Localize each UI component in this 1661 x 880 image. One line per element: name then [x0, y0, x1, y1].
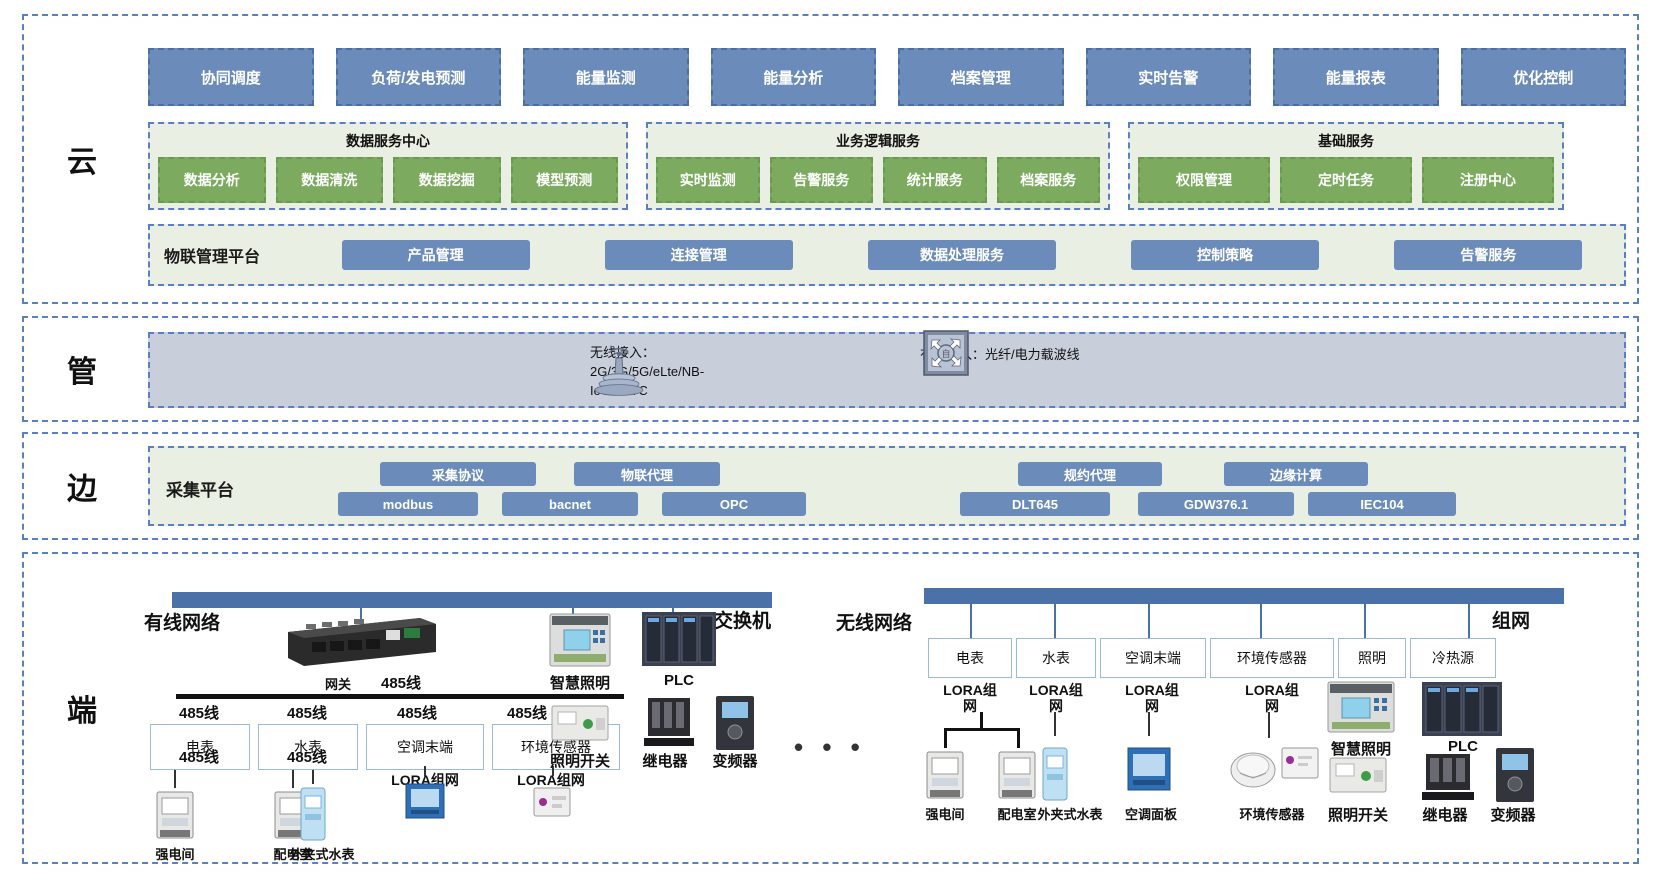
- iot-item-alarm-service[interactable]: 告警服务: [1394, 240, 1582, 270]
- edge-protocol-bacnet[interactable]: bacnet: [502, 492, 638, 516]
- wireless-link-lora-3: LORA组网: [1122, 682, 1182, 714]
- wireless-drop-6: [1468, 594, 1470, 638]
- wireless-drop-3: [1148, 594, 1150, 638]
- wired-device-hvac-terminal[interactable]: 空调末端: [366, 724, 484, 770]
- iot-item-data-processing-service[interactable]: 数据处理服务: [868, 240, 1056, 270]
- wired-485-bus: [176, 694, 624, 699]
- smart-lighting-icon: [548, 612, 612, 675]
- terminal-layer: 端 有线网络 交换机 网关 485线 485线 485线 485线 485线 电…: [22, 552, 1639, 864]
- wireless-link-lora-2: LORA组网: [1026, 682, 1086, 714]
- inverter-icon: [712, 694, 758, 757]
- wireless-endpoint-clamp-water-meter: 外夹式水表: [1024, 804, 1116, 823]
- app-box-optimization-control[interactable]: 优化控制: [1461, 48, 1627, 106]
- wireless-drop-5: [1364, 594, 1366, 638]
- pipe-layer: 管 无线接入：2G/3G/5G/eLte/NB-IoT/eMTC: [22, 316, 1639, 422]
- wired-sublink-485-1: 485线: [164, 746, 234, 767]
- cloud-layer: 云 协同调度 负荷/发电预测 能量监测 能量分析 档案管理 实时告警 能量报表 …: [22, 14, 1639, 304]
- cloud-layer-label: 云: [24, 16, 142, 302]
- edge-protocol-dlt645[interactable]: DLT645: [960, 492, 1110, 516]
- wireless-meter-bracket-right: [1017, 728, 1020, 748]
- service-item-realtime-monitoring[interactable]: 实时监测: [656, 157, 760, 203]
- wireless-endpoint-hvac-panel: 空调面板: [1116, 804, 1186, 823]
- wireless-network-label: 无线网络: [836, 608, 912, 635]
- wireless-drop-1: [970, 594, 972, 638]
- wired-side-device-smart-lighting: 智慧照明: [542, 672, 618, 693]
- plc-icon: [1420, 680, 1504, 743]
- electric-meter-icon: [154, 790, 196, 849]
- wireless-device-electric-meter[interactable]: 电表: [928, 638, 1012, 678]
- water-meter-icon: [1038, 746, 1072, 809]
- edge-capability-iot-agent[interactable]: 物联代理: [574, 462, 720, 486]
- edge-band: 采集平台 采集协议 物联代理 规约代理 边缘计算 modbus bacnet O…: [148, 446, 1626, 526]
- lighting-switch-icon: [548, 700, 612, 751]
- wireless-endpoint-environment-sensor: 环境传感器: [1222, 804, 1322, 823]
- edge-protocol-iec104[interactable]: IEC104: [1308, 492, 1456, 516]
- edge-layer: 边 采集平台 采集协议 物联代理 规约代理 边缘计算 modbus bacnet…: [22, 432, 1639, 540]
- gateway-bus-label: 485线: [368, 672, 434, 693]
- service-group-title: 基础服务: [1138, 131, 1554, 151]
- wireless-drop-2: [1054, 594, 1056, 638]
- pipe-layer-label: 管: [24, 318, 142, 420]
- service-item-archive-service[interactable]: 档案服务: [997, 157, 1101, 203]
- water-meter-icon: [296, 786, 330, 849]
- cloud-service-row: 数据服务中心 数据分析 数据清洗 数据挖掘 模型预测 业务逻辑服务 实时监测 告…: [148, 122, 1626, 210]
- app-box-energy-report[interactable]: 能量报表: [1273, 48, 1439, 106]
- service-item-alarm-service[interactable]: 告警服务: [770, 157, 874, 203]
- wired-link-distribution-room: [292, 770, 294, 788]
- wired-side-device-lighting-switch: 照明开关: [540, 750, 620, 771]
- wireless-device-water-meter[interactable]: 水表: [1016, 638, 1096, 678]
- hvac-panel-icon: [1126, 746, 1172, 799]
- svg-text:自: 自: [941, 348, 950, 360]
- terminal-layer-label: 端: [24, 554, 142, 862]
- hvac-panel-icon: [404, 782, 446, 827]
- service-item-statistics-service[interactable]: 统计服务: [883, 157, 987, 203]
- lighting-switch-icon: [1326, 754, 1390, 803]
- service-group-title: 数据服务中心: [158, 131, 618, 151]
- service-item-registry-center[interactable]: 注册中心: [1422, 157, 1554, 203]
- cloud-application-row: 协同调度 负荷/发电预测 能量监测 能量分析 档案管理 实时告警 能量报表 优化…: [148, 48, 1626, 106]
- iot-platform-items: 产品管理 连接管理 数据处理服务 控制策略 告警服务: [314, 240, 1610, 270]
- wireless-device-cooling-heating[interactable]: 冷热源: [1410, 638, 1496, 678]
- switch-label: 交换机: [714, 606, 771, 633]
- iot-platform-title: 物联管理平台: [164, 243, 314, 267]
- app-box-energy-analysis[interactable]: 能量分析: [711, 48, 877, 106]
- edge-protocol-modbus[interactable]: modbus: [338, 492, 478, 516]
- wireless-device-environment-sensor[interactable]: 环境传感器: [1210, 638, 1334, 678]
- edge-platform-title: 采集平台: [166, 476, 234, 501]
- bus-label-485-2: 485线: [272, 702, 342, 723]
- electric-meter-icon: [924, 750, 966, 809]
- edge-protocol-gdw3761[interactable]: GDW376.1: [1138, 492, 1294, 516]
- wireless-link-lora-4: LORA组网: [1242, 682, 1302, 714]
- pipe-entry-wired: 自 有线接入：光纤/电力载波线: [920, 346, 1080, 365]
- iot-item-connection-management[interactable]: 连接管理: [605, 240, 793, 270]
- wired-side-device-relay: 继电器: [632, 750, 698, 771]
- service-group-business-logic: 业务逻辑服务 实时监测 告警服务 统计服务 档案服务: [646, 122, 1110, 210]
- service-group-data-center: 数据服务中心 数据分析 数据清洗 数据挖掘 模型预测: [148, 122, 628, 210]
- edge-protocol-opc[interactable]: OPC: [662, 492, 806, 516]
- app-box-energy-monitoring[interactable]: 能量监测: [523, 48, 689, 106]
- app-box-realtime-alarm[interactable]: 实时告警: [1086, 48, 1252, 106]
- service-item-data-mining[interactable]: 数据挖掘: [393, 157, 501, 203]
- cell-tower-icon: [590, 342, 648, 403]
- service-items: 数据分析 数据清洗 数据挖掘 模型预测: [158, 157, 618, 203]
- app-box-archive-management[interactable]: 档案管理: [898, 48, 1064, 106]
- wireless-device-lighting[interactable]: 照明: [1338, 638, 1406, 678]
- service-items: 实时监测 告警服务 统计服务 档案服务: [656, 157, 1100, 203]
- gateway-label: 网关: [312, 674, 364, 693]
- wired-network-label: 有线网络: [144, 608, 220, 635]
- wired-side-device-inverter: 变频器: [702, 750, 768, 771]
- environment-sensor-icon: [1280, 746, 1320, 791]
- wired-endpoint-strong-room: 强电间: [142, 844, 208, 863]
- plc-icon: [640, 610, 718, 673]
- edge-capability-edge-computing[interactable]: 边缘计算: [1224, 462, 1368, 486]
- service-group-basic: 基础服务 权限管理 定时任务 注册中心: [1128, 122, 1564, 210]
- electric-meter-icon: [996, 750, 1038, 809]
- edge-capability-acquisition-protocol[interactable]: 采集协议: [380, 462, 536, 486]
- ellipsis-separator: • • •: [794, 732, 866, 763]
- smoke-detector-icon: [1228, 746, 1278, 801]
- wireless-group-label: 组网: [1492, 606, 1530, 633]
- wireless-meter-bracket-left: [944, 728, 947, 748]
- service-group-title: 业务逻辑服务: [656, 131, 1100, 151]
- relay-icon: [642, 694, 696, 755]
- wired-link-hvac: [424, 766, 426, 776]
- service-item-scheduled-task[interactable]: 定时任务: [1280, 157, 1412, 203]
- wireless-endpoint-strong-room: 强电间: [912, 804, 978, 823]
- bus-label-485-3: 485线: [382, 702, 452, 723]
- wireless-side-device-inverter: 变频器: [1480, 804, 1546, 825]
- edge-capability-protocol-agent[interactable]: 规约代理: [1018, 462, 1162, 486]
- wired-endpoint-clamp-water-meter: 外夹式水表: [280, 844, 364, 863]
- smart-lighting-icon: [1326, 680, 1396, 741]
- wired-sublink-485-2: 485线: [272, 746, 342, 767]
- inverter-icon: [1492, 746, 1538, 809]
- app-box-load-generation-forecast[interactable]: 负荷/发电预测: [336, 48, 502, 106]
- environment-sensor-icon: [532, 786, 572, 825]
- wireless-side-device-lighting-switch: 照明开关: [1318, 804, 1398, 825]
- service-item-data-cleaning[interactable]: 数据清洗: [276, 157, 384, 203]
- service-item-data-analysis[interactable]: 数据分析: [158, 157, 266, 203]
- wireless-device-hvac-terminal[interactable]: 空调末端: [1100, 638, 1206, 678]
- service-items: 权限管理 定时任务 注册中心: [1138, 157, 1554, 203]
- wireless-link-env-sensor: [1268, 712, 1270, 738]
- wireless-link-lora-1: LORA组网: [940, 682, 1000, 714]
- pipe-entry-wireless: 无线接入：2G/3G/5G/eLte/NB-IoT/eMTC: [590, 344, 750, 401]
- wireless-drop-4: [1260, 594, 1262, 638]
- wireless-link-hvac-panel: [1148, 712, 1150, 736]
- service-item-model-prediction[interactable]: 模型预测: [511, 157, 619, 203]
- relay-icon: [1420, 750, 1476, 809]
- wired-switch-icon: 自: [920, 328, 972, 383]
- iot-platform-row: 物联管理平台 产品管理 连接管理 数据处理服务 控制策略 告警服务: [148, 224, 1626, 286]
- wired-backbone-bus: [172, 592, 772, 608]
- wireless-meter-bracket-top: [944, 728, 1020, 731]
- app-box-collaborative-dispatch[interactable]: 协同调度: [148, 48, 314, 106]
- bus-label-485-1: 485线: [164, 702, 234, 723]
- wireless-side-device-relay: 继电器: [1412, 804, 1478, 825]
- wireless-link-water: [1054, 712, 1056, 736]
- wired-link-water: [312, 770, 314, 784]
- wireless-meter-bracket-stem: [980, 712, 983, 728]
- edge-layer-label: 边: [24, 434, 142, 538]
- pipe-band: 无线接入：2G/3G/5G/eLte/NB-IoT/eMTC 自 有: [148, 332, 1626, 408]
- wired-side-device-plc: PLC: [652, 672, 706, 689]
- iot-item-product-management[interactable]: 产品管理: [342, 240, 530, 270]
- iot-item-control-strategy[interactable]: 控制策略: [1131, 240, 1319, 270]
- service-item-permission-management[interactable]: 权限管理: [1138, 157, 1270, 203]
- wired-link-strong-room: [174, 770, 176, 788]
- gateway-device-icon: [282, 612, 442, 677]
